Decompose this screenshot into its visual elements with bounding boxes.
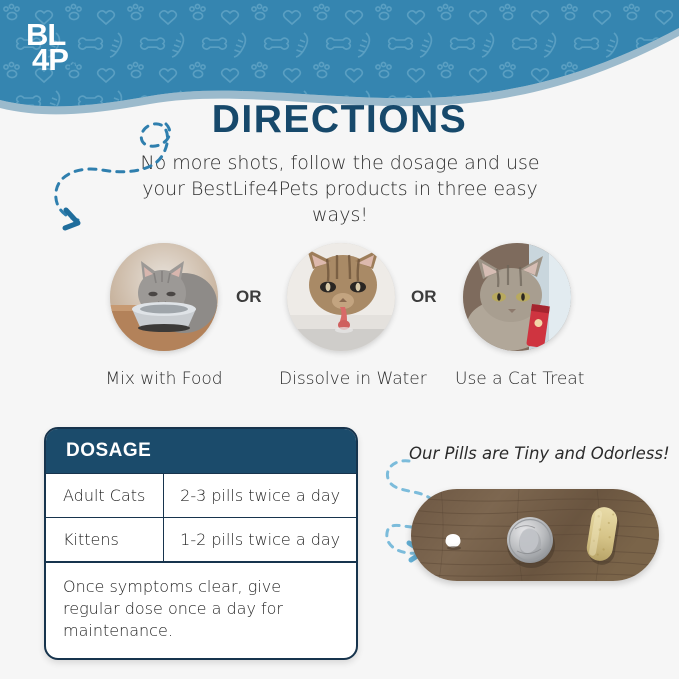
method-item-mix-with-food[interactable]: Mix with Food xyxy=(102,243,226,389)
method-label: Use a Cat Treat xyxy=(455,369,579,389)
dosage-table: Adult Cats 2-3 pills twice a day Kittens… xyxy=(46,473,356,562)
decorative-dashed-arrow-icon xyxy=(44,112,179,237)
cat-eating-from-bowl-photo xyxy=(110,243,218,351)
infographic-page: BL 4P DIRECTIONS No more shots, follow t… xyxy=(0,0,679,679)
dosage-amount: 2-3 pills twice a day xyxy=(164,474,356,518)
separator-or-2: OR xyxy=(411,287,437,307)
dosage-card: DOSAGE Adult Cats 2-3 pills twice a day … xyxy=(44,427,358,660)
paw-icon xyxy=(66,59,79,71)
method-item-use-a-cat-treat[interactable]: Use a Cat Treat xyxy=(455,243,579,389)
table-row: Adult Cats 2-3 pills twice a day xyxy=(46,474,356,518)
table-row: Kittens 1-2 pills twice a day xyxy=(46,518,356,562)
methods-row: Mix with Food OR xyxy=(0,243,679,393)
dosage-heading: DOSAGE xyxy=(46,429,356,473)
separator-or-1: OR xyxy=(236,287,262,307)
dosage-group: Kittens xyxy=(46,518,164,562)
method-item-dissolve-in-water[interactable]: Dissolve in Water xyxy=(279,243,403,389)
method-label: Mix with Food xyxy=(102,369,226,389)
brand-logo: BL 4P xyxy=(26,20,88,80)
dosage-note: Once symptoms clear, give regular dose o… xyxy=(46,562,356,658)
logo-text-4p: 4P xyxy=(32,45,68,75)
dosage-group: Adult Cats xyxy=(46,474,164,518)
cat-drinking-water-photo xyxy=(287,243,395,351)
method-label: Dissolve in Water xyxy=(279,369,403,389)
wood-board-photo xyxy=(411,489,659,581)
cat-with-treat-pouch-photo xyxy=(463,243,571,351)
page-subtitle: No more shots, follow the dosage and use… xyxy=(140,150,540,228)
dosage-amount: 1-2 pills twice a day xyxy=(164,518,356,562)
